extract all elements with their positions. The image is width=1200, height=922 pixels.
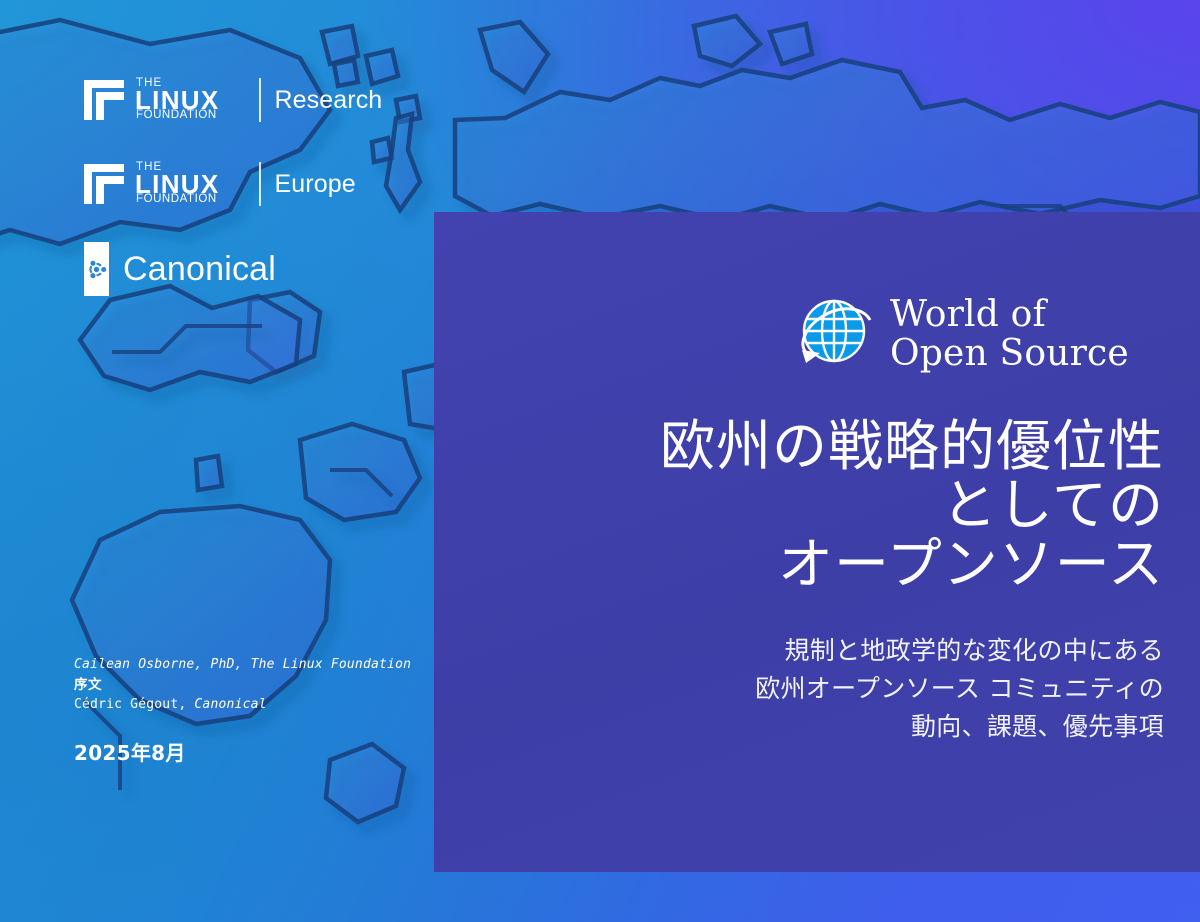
logo-divider bbox=[259, 78, 261, 122]
page-subtitle: 規制と地政学的な変化の中にある 欧州オープンソース コミュニティの 動向、課題、… bbox=[474, 632, 1164, 746]
title-line-2: としての bbox=[470, 476, 1164, 535]
linux-foundation-mark-icon bbox=[84, 164, 124, 204]
credit-author: Cailean Osborne, PhD, The Linux Foundati… bbox=[74, 655, 411, 675]
linux-foundation-wordmark: THE LINUX FOUNDATION bbox=[135, 163, 253, 205]
credits-block: Cailean Osborne, PhD, The Linux Foundati… bbox=[74, 655, 411, 715]
wos-line-2: Open Source bbox=[890, 333, 1129, 374]
title-line-1: 欧州の戦略的優位性 bbox=[470, 417, 1164, 476]
logo-divider bbox=[259, 162, 261, 206]
title-panel: World of Open Source 欧州の戦略的優位性 としての オープン… bbox=[434, 212, 1200, 872]
ubuntu-circle-of-friends-icon bbox=[84, 242, 109, 296]
title-line-3: オープンソース bbox=[470, 535, 1164, 594]
credit-foreword-author: Cédric Gégout, Canonical bbox=[74, 695, 411, 715]
wos-line-1: World of bbox=[890, 294, 1046, 335]
world-of-open-source-wordmark: World of Open Source bbox=[890, 295, 1129, 373]
linux-foundation-wordmark: THE LINUX FOUNDATION bbox=[135, 79, 253, 121]
logo-linux-foundation-research: THE LINUX FOUNDATION Research bbox=[84, 74, 382, 126]
credit-foreword-author-name: Cédric Gégout, bbox=[74, 697, 194, 712]
logo-canonical: Canonical bbox=[84, 242, 382, 296]
canonical-wordmark: Canonical bbox=[123, 250, 276, 289]
world-globe-orbit-icon bbox=[790, 290, 878, 378]
credit-foreword-author-org: Canonical bbox=[194, 697, 266, 712]
page-title: 欧州の戦略的優位性 としての オープンソース bbox=[470, 417, 1164, 594]
lf-foundation-text: FOUNDATION bbox=[136, 110, 217, 121]
credit-foreword-label: 序文 bbox=[74, 675, 411, 695]
logo-stack: THE LINUX FOUNDATION Research THE LINUX … bbox=[84, 74, 382, 296]
subtitle-line-2: 欧州オープンソース コミュニティの bbox=[474, 670, 1164, 708]
logo-subbrand-research: Research bbox=[275, 86, 383, 115]
subtitle-line-1: 規制と地政学的な変化の中にある bbox=[474, 632, 1164, 670]
world-of-open-source-logo: World of Open Source bbox=[790, 290, 1129, 378]
subtitle-line-3: 動向、課題、優先事項 bbox=[474, 708, 1164, 746]
logo-subbrand-europe: Europe bbox=[275, 170, 356, 199]
linux-foundation-mark-icon bbox=[84, 80, 124, 120]
logo-linux-foundation-europe: THE LINUX FOUNDATION Europe bbox=[84, 158, 382, 210]
report-cover-page: THE LINUX FOUNDATION Research THE LINUX … bbox=[0, 0, 1200, 922]
lf-foundation-text: FOUNDATION bbox=[136, 194, 217, 205]
publication-date: 2025年8月 bbox=[74, 737, 186, 766]
